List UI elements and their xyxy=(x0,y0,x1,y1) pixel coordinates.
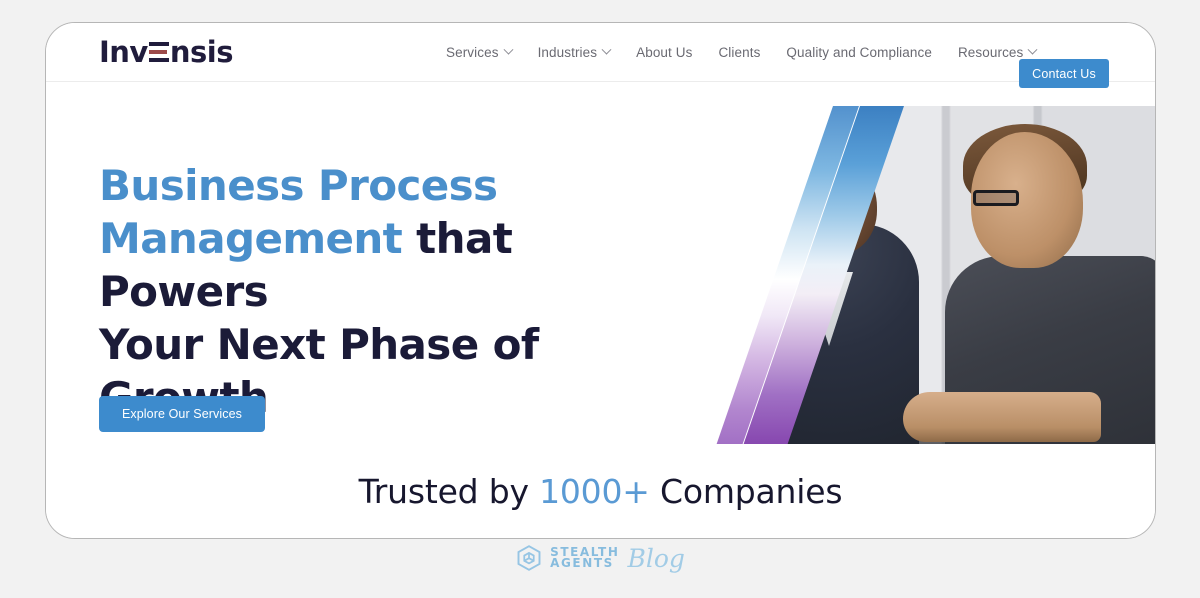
hero-heading-line-1: Business Process xyxy=(99,161,497,210)
nav-item-services[interactable]: Services xyxy=(446,45,512,60)
chevron-down-icon xyxy=(1028,45,1038,55)
hero-heading: Business Process Management that Powers … xyxy=(99,160,659,425)
hero-copy: Business Process Management that Powers … xyxy=(99,160,659,425)
nav-item-about-us-label: About Us xyxy=(636,45,692,60)
site-header: Inv nsis Services Industries About Us Cl… xyxy=(46,23,1155,82)
brand-logo-e-icon xyxy=(149,42,169,63)
brand-logo-part-1: Inv xyxy=(99,38,148,67)
watermark-line-2: AGENTS xyxy=(550,558,619,569)
nav-item-industries[interactable]: Industries xyxy=(538,45,611,60)
nav-item-industries-label: Industries xyxy=(538,45,598,60)
nav-item-clients-label: Clients xyxy=(718,45,760,60)
hexagon-cube-icon xyxy=(515,544,543,572)
nav-item-quality-and-compliance-label: Quality and Compliance xyxy=(786,45,932,60)
brand-logo[interactable]: Inv nsis xyxy=(99,36,233,68)
watermark-wordmark: STEALTH AGENTS xyxy=(550,547,619,569)
watermark-blog-script: Blog xyxy=(627,544,684,573)
nav-item-services-label: Services xyxy=(446,45,499,60)
brand-logo-text: Inv nsis xyxy=(99,38,233,67)
brand-logo-part-2: nsis xyxy=(170,38,233,67)
trusted-by-section: Trusted by 1000+ Companies xyxy=(46,444,1155,538)
nav-item-resources[interactable]: Resources xyxy=(958,45,1036,60)
hero-person-right-arm xyxy=(903,392,1101,442)
glasses-icon xyxy=(973,190,1019,206)
hero-section: Business Process Management that Powers … xyxy=(46,83,1155,445)
nav-item-quality-and-compliance[interactable]: Quality and Compliance xyxy=(786,45,932,60)
trusted-prefix: Trusted by xyxy=(359,472,539,511)
browser-page-card: Inv nsis Services Industries About Us Cl… xyxy=(45,22,1156,539)
chevron-down-icon xyxy=(503,45,513,55)
hero-image xyxy=(645,106,1155,467)
nav-item-about-us[interactable]: About Us xyxy=(636,45,692,60)
trusted-count: 1000+ xyxy=(539,472,650,511)
watermark: STEALTH AGENTS Blog xyxy=(0,543,1200,573)
nav-item-clients[interactable]: Clients xyxy=(718,45,760,60)
explore-our-services-button[interactable]: Explore Our Services xyxy=(99,396,265,432)
trusted-by-text: Trusted by 1000+ Companies xyxy=(359,472,843,511)
nav-item-resources-label: Resources xyxy=(958,45,1023,60)
trusted-suffix: Companies xyxy=(650,472,843,511)
hero-heading-line-2-accent: Management xyxy=(99,214,402,263)
main-navigation: Services Industries About Us Clients Qua… xyxy=(446,23,1036,82)
chevron-down-icon xyxy=(602,45,612,55)
hero-person-left-head xyxy=(797,160,877,254)
